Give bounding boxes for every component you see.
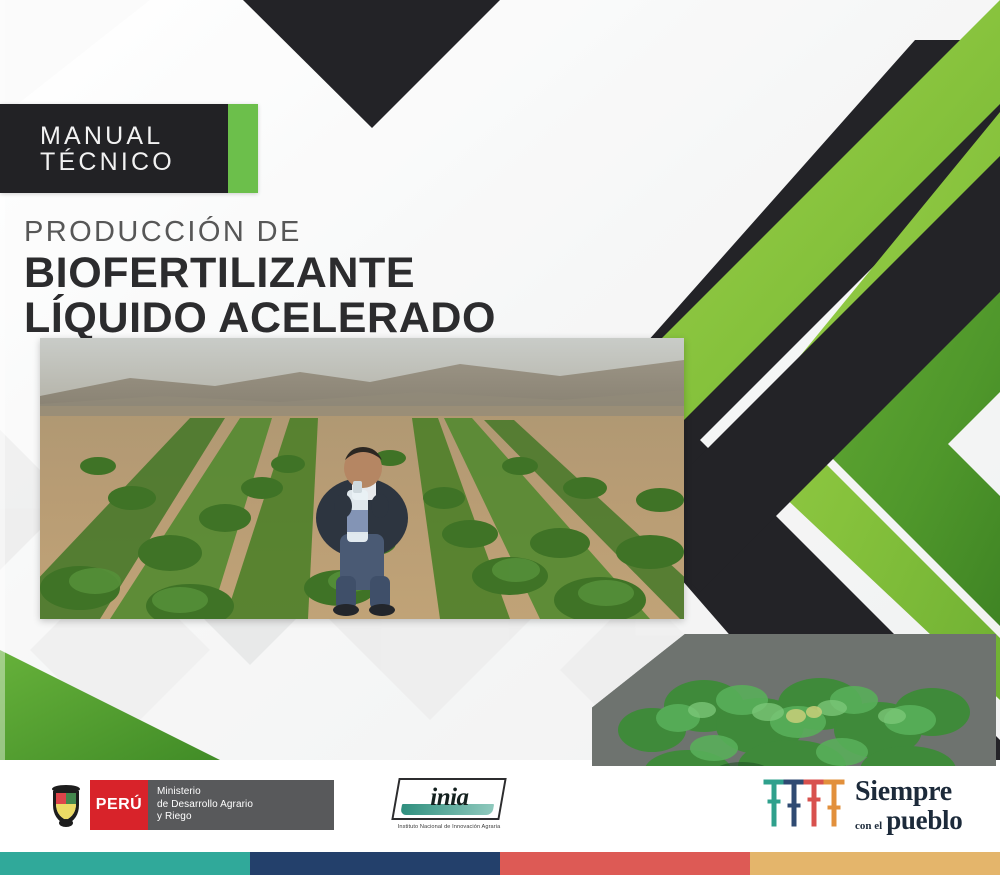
title-line-2: LÍQUIDO ACELERADO <box>24 296 664 341</box>
badge-box: MANUAL TÉCNICO <box>0 104 228 193</box>
logo-siempre-con-el-pueblo: Siempre con el pueblo <box>762 776 962 835</box>
badge-accent-bar <box>228 104 258 193</box>
cover-title-block: PRODUCCIÓN DE BIOFERTILIZANTE LÍQUIDO AC… <box>24 216 664 342</box>
colorbar-segment-2 <box>250 852 500 875</box>
peru-label: PERÚ <box>90 780 148 830</box>
siempre-word-top: Siempre <box>855 778 962 806</box>
bottom-color-bar <box>0 852 1000 875</box>
inia-mark: inia <box>391 778 506 820</box>
publication-cover: MANUAL TÉCNICO PRODUCCIÓN DE BIOFERTILIZ… <box>0 0 1000 875</box>
siempre-wordmark: Siempre con el pueblo <box>855 778 962 834</box>
ministerio-line-2: de Desarrollo Agrario <box>157 799 334 812</box>
siempre-word-small: con el <box>855 821 882 832</box>
cover-photo-field <box>40 338 684 619</box>
badge-line-2: TÉCNICO <box>40 149 228 175</box>
colorbar-segment-3 <box>500 852 750 875</box>
title-pretext: PRODUCCIÓN DE <box>24 216 664 249</box>
ministerio-line-3: y Riego <box>157 811 334 824</box>
siempre-word-bottom: con el pueblo <box>855 807 962 834</box>
inia-tagline: Instituto Nacional de Innovación Agraria <box>381 824 517 830</box>
siempre-word-big: pueblo <box>886 807 962 834</box>
colorbar-segment-4 <box>750 852 1000 875</box>
siempre-mark-icon <box>762 776 846 835</box>
inia-wordmark: inia <box>430 785 468 810</box>
logo-ministerio-desarrollo-agrario: PERÚ Ministerio de Desarrollo Agrario y … <box>42 780 334 830</box>
logo-inia: inia Instituto Nacional de Innovación Ag… <box>381 778 517 830</box>
ministerio-label-box: Ministerio de Desarrollo Agrario y Riego <box>148 780 334 830</box>
title-line-1: BIOFERTILIZANTE <box>24 251 664 296</box>
cover-footer: PERÚ Ministerio de Desarrollo Agrario y … <box>0 766 1000 852</box>
manual-tecnico-badge: MANUAL TÉCNICO <box>0 104 258 193</box>
ministerio-line-1: Ministerio <box>157 786 334 799</box>
escudo-nacional-icon <box>42 780 90 830</box>
colorbar-segment-1 <box>0 852 250 875</box>
badge-line-1: MANUAL <box>40 123 228 149</box>
